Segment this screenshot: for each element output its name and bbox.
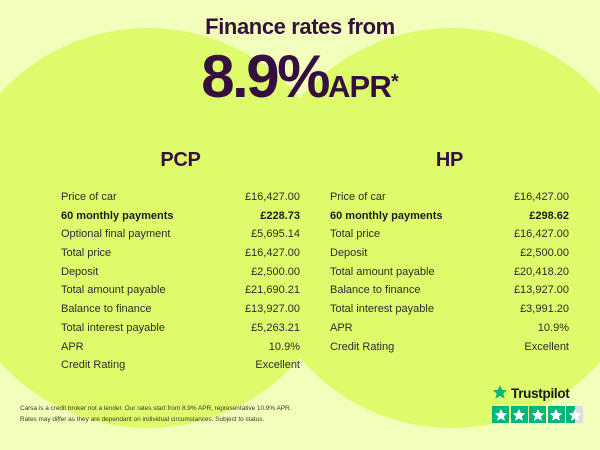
row-value: £16,427.00 (514, 188, 569, 207)
rate-value: 8.9% (201, 43, 328, 110)
table-row: 60 monthly payments£228.73 (61, 207, 300, 226)
row-label: APR (330, 319, 353, 338)
row-label: APR (61, 338, 84, 357)
table-row: Credit RatingExcellent (61, 356, 300, 375)
trustpilot-star-full (511, 406, 528, 423)
row-value: £5,695.14 (251, 225, 300, 244)
row-value: £298.62 (529, 207, 569, 226)
row-label: 60 monthly payments (330, 207, 442, 226)
trustpilot-star-icon (492, 384, 508, 405)
trustpilot-rating[interactable]: Trustpilot (492, 386, 588, 423)
row-label: Deposit (330, 244, 367, 263)
trustpilot-stars (492, 406, 588, 423)
rate-unit: APR (328, 69, 391, 104)
table-row: Total price£16,427.00 (61, 244, 300, 263)
row-label: Total amount payable (330, 263, 435, 282)
table-row: APR10.9% (61, 338, 300, 357)
disclaimer-line-2: Rates may differ as they are dependant o… (20, 415, 350, 426)
row-value: 10.9% (538, 319, 569, 338)
row-value: £16,427.00 (514, 225, 569, 244)
finance-rates-card: Finance rates from 8.9%APR* PCP Price of… (0, 0, 600, 450)
row-value: £16,427.00 (245, 244, 300, 263)
trustpilot-star-full (548, 406, 565, 423)
row-label: Total amount payable (61, 281, 166, 300)
row-label: Total price (61, 244, 111, 263)
row-label: Balance to finance (330, 281, 421, 300)
row-value: £2,500.00 (520, 244, 569, 263)
disclaimer-text: Carsa is a credit broker not a lender. O… (20, 404, 350, 425)
row-label: Total price (330, 225, 380, 244)
row-value: £13,927.00 (514, 281, 569, 300)
table-row: Optional final payment£5,695.14 (61, 225, 300, 244)
row-value: Excellent (524, 338, 569, 357)
row-label: Total interest payable (330, 300, 434, 319)
row-value: £3,991.20 (520, 300, 569, 319)
table-row: 60 monthly payments£298.62 (330, 207, 569, 226)
trustpilot-star-full (529, 406, 546, 423)
finance-panel-hp: HP Price of car£16,427.0060 monthly paym… (330, 150, 569, 356)
trustpilot-logo: Trustpilot (492, 386, 588, 402)
table-row: APR10.9% (330, 319, 569, 338)
rate-asterisk: * (391, 71, 399, 93)
table-row: Total interest payable£3,991.20 (330, 300, 569, 319)
table-row: Total amount payable£21,690.21 (61, 281, 300, 300)
table-row: Balance to finance£13,927.00 (61, 300, 300, 319)
row-label: 60 monthly payments (61, 207, 173, 226)
trustpilot-star-full (492, 406, 509, 423)
row-label: Price of car (61, 188, 117, 207)
table-row: Total amount payable£20,418.20 (330, 263, 569, 282)
trustpilot-star-half (566, 406, 583, 423)
table-row: Total interest payable£5,263.21 (61, 319, 300, 338)
panel-title-hp: HP (330, 150, 569, 170)
row-label: Balance to finance (61, 300, 152, 319)
row-value: £20,418.20 (514, 263, 569, 282)
panel-title-pcp: PCP (61, 150, 300, 170)
row-value: £21,690.21 (245, 281, 300, 300)
row-label: Price of car (330, 188, 386, 207)
table-row: Credit RatingExcellent (330, 338, 569, 357)
row-label: Credit Rating (61, 356, 125, 375)
row-value: £5,263.21 (251, 319, 300, 338)
table-row: Balance to finance£13,927.00 (330, 281, 569, 300)
headline-rate: 8.9%APR* (0, 47, 600, 107)
page-title: Finance rates from (0, 16, 600, 38)
table-row: Deposit£2,500.00 (330, 244, 569, 263)
row-value: Excellent (255, 356, 300, 375)
row-label: Total interest payable (61, 319, 165, 338)
row-value: £228.73 (260, 207, 300, 226)
row-value: £16,427.00 (245, 188, 300, 207)
header: Finance rates from 8.9%APR* (0, 16, 600, 107)
table-row: Price of car£16,427.00 (330, 188, 569, 207)
row-value: 10.9% (269, 338, 300, 357)
row-value: £2,500.00 (251, 263, 300, 282)
row-label: Deposit (61, 263, 98, 282)
row-label: Credit Rating (330, 338, 394, 357)
disclaimer-line-1: Carsa is a credit broker not a lender. O… (20, 404, 350, 415)
table-row: Price of car£16,427.00 (61, 188, 300, 207)
finance-table-pcp: Price of car£16,427.0060 monthly payment… (61, 188, 300, 375)
table-row: Total price£16,427.00 (330, 225, 569, 244)
row-value: £13,927.00 (245, 300, 300, 319)
row-label: Optional final payment (61, 225, 170, 244)
trustpilot-wordmark: Trustpilot (511, 387, 570, 401)
table-row: Deposit£2,500.00 (61, 263, 300, 282)
finance-panel-pcp: PCP Price of car£16,427.0060 monthly pay… (61, 150, 300, 375)
finance-table-hp: Price of car£16,427.0060 monthly payment… (330, 188, 569, 356)
